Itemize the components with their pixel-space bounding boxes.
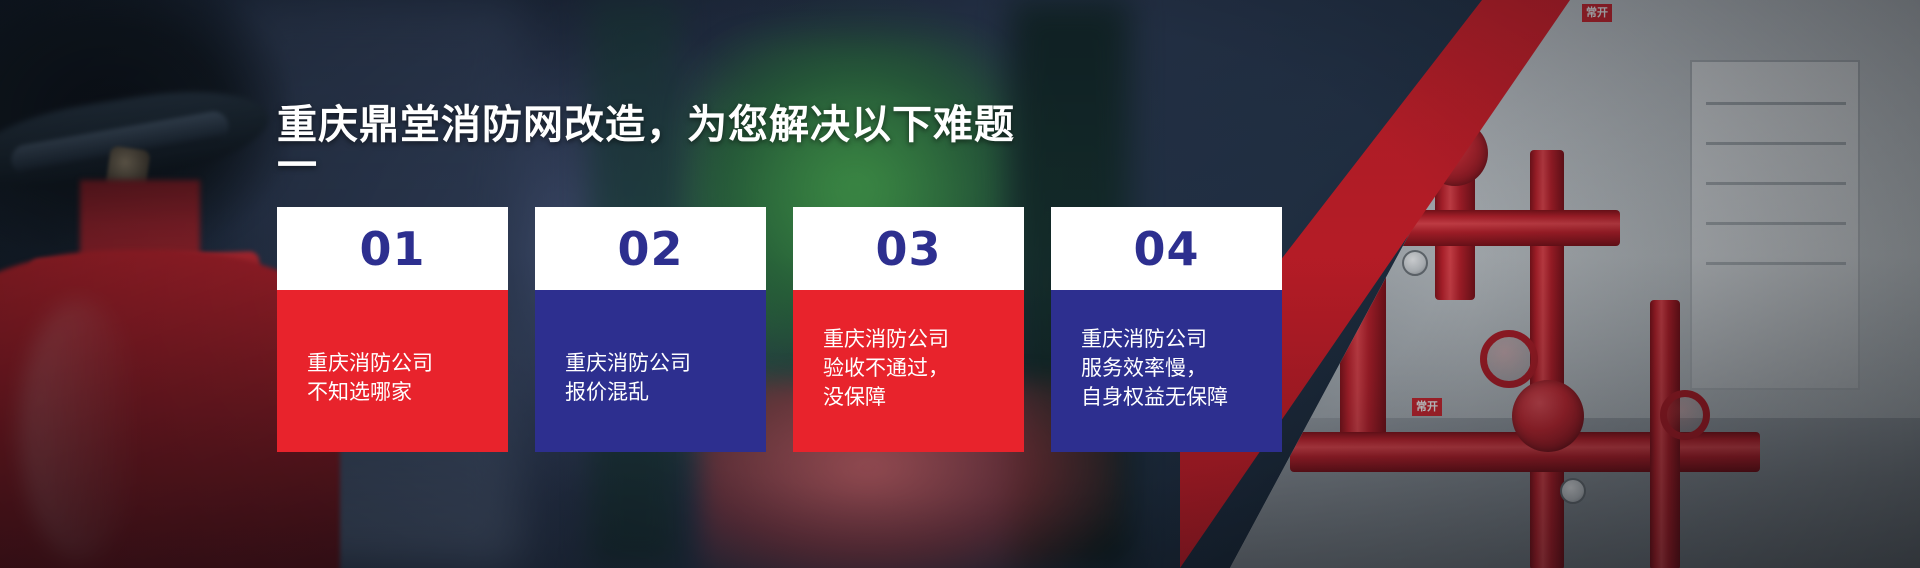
card-text-line: 不知选哪家	[307, 379, 508, 408]
card-text-line: 验收不通过，	[823, 355, 1024, 384]
card-text-line: 重庆消防公司	[565, 350, 766, 379]
card-number-02: 02	[617, 226, 683, 272]
card-number-04: 04	[1133, 226, 1199, 272]
problem-card-01[interactable]: 01 重庆消防公司 不知选哪家	[277, 207, 508, 452]
card-text-line: 报价混乱	[565, 379, 766, 408]
card-text-line: 没保障	[823, 384, 1024, 413]
card-body-02: 重庆消防公司 报价混乱	[535, 290, 766, 452]
card-number-01: 01	[359, 226, 425, 272]
card-header-04: 04	[1051, 207, 1282, 290]
card-header-03: 03	[793, 207, 1024, 290]
banner-stage: 常开 常闭 常开 重庆鼎堂消防网改造，为您解决以下难题 一 01 重庆消防公司 …	[0, 0, 1920, 568]
card-text-line: 重庆消防公司	[823, 326, 1024, 355]
card-body-03: 重庆消防公司 验收不通过， 没保障	[793, 290, 1024, 452]
card-header-02: 02	[535, 207, 766, 290]
card-number-03: 03	[875, 226, 941, 272]
page-title: 重庆鼎堂消防网改造，为您解决以下难题	[277, 92, 1015, 150]
problem-card-04[interactable]: 04 重庆消防公司 服务效率慢， 自身权益无保障	[1051, 207, 1282, 452]
card-body-04: 重庆消防公司 服务效率慢， 自身权益无保障	[1051, 290, 1282, 452]
card-text-line: 服务效率慢，	[1081, 355, 1282, 384]
card-text-line: 自身权益无保障	[1081, 384, 1282, 413]
card-text-line: 重庆消防公司	[307, 350, 508, 379]
problem-cards-list: 01 重庆消防公司 不知选哪家 02 重庆消防公司 报价混乱 03	[277, 207, 1307, 452]
problem-card-02[interactable]: 02 重庆消防公司 报价混乱	[535, 207, 766, 452]
banner-content: 重庆鼎堂消防网改造，为您解决以下难题 一 01 重庆消防公司 不知选哪家 02 …	[0, 0, 1920, 568]
title-underline-dash: 一	[277, 133, 317, 191]
card-header-01: 01	[277, 207, 508, 290]
problem-card-03[interactable]: 03 重庆消防公司 验收不通过， 没保障	[793, 207, 1024, 452]
card-text-line: 重庆消防公司	[1081, 326, 1282, 355]
card-body-01: 重庆消防公司 不知选哪家	[277, 290, 508, 452]
